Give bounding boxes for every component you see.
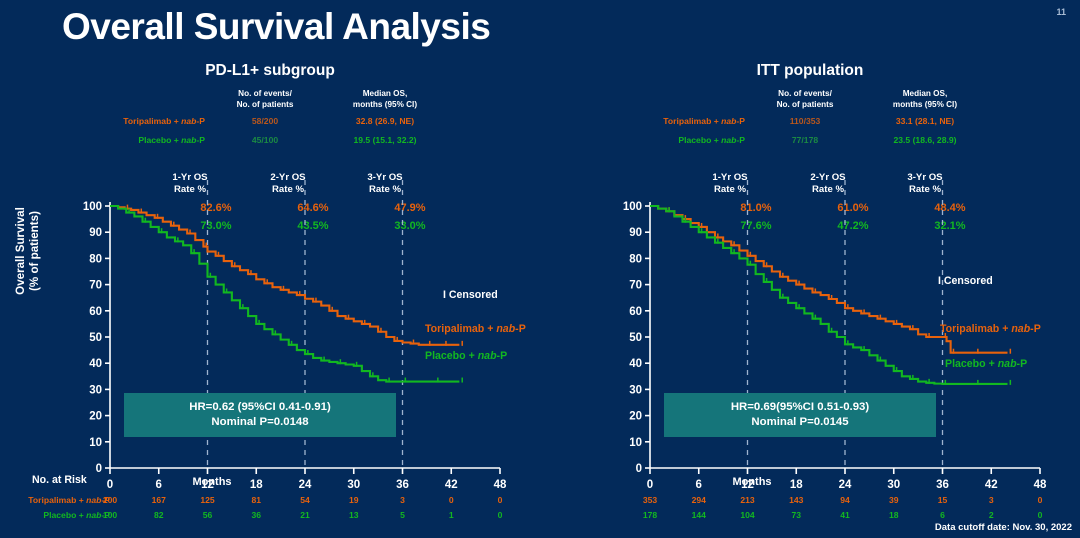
svg-text:100: 100: [83, 201, 102, 213]
hr-box-itt: HR=0.69(95%CI 0.51-0.93) Nominal P=0.014…: [664, 393, 936, 437]
svg-text:10: 10: [629, 437, 642, 449]
curve-label-treatment-pdl1: Toripalimab + nab-P: [425, 323, 526, 335]
svg-text:80: 80: [89, 253, 102, 265]
svg-text:30: 30: [89, 384, 102, 396]
page-title: Overall Survival Analysis: [62, 6, 490, 48]
svg-text:18: 18: [250, 479, 263, 491]
txt-italic: nab: [478, 350, 497, 362]
svg-text:42: 42: [985, 479, 998, 491]
at-risk-value: 19: [339, 495, 369, 505]
svg-text:24: 24: [299, 479, 312, 491]
at-risk-value: 15: [928, 495, 958, 505]
at-risk-value: 104: [733, 510, 763, 520]
at-risk-value: 21: [290, 510, 320, 520]
txt-italic: nab: [496, 323, 515, 335]
svg-text:50: 50: [89, 332, 102, 344]
svg-text:90: 90: [629, 227, 642, 239]
at-risk-value: 94: [830, 495, 860, 505]
at-risk-value: 0: [1025, 510, 1055, 520]
at-risk-value: 18: [879, 510, 909, 520]
svg-text:0: 0: [107, 479, 113, 491]
svg-text:30: 30: [629, 384, 642, 396]
svg-text:36: 36: [396, 479, 409, 491]
at-risk-value: 36: [241, 510, 271, 520]
hr-box-pdl1: HR=0.62 (95%CI 0.41-0.91) Nominal P=0.01…: [124, 393, 396, 437]
txt: Placebo +: [43, 510, 86, 520]
at-risk-value: 143: [781, 495, 811, 505]
page-number: 11: [1056, 7, 1066, 17]
at-risk-value: 13: [339, 510, 369, 520]
hr-line1: HR=0.69(95%CI 0.51-0.93): [731, 400, 869, 415]
curve-label-control-pdl1: Placebo + nab-P: [425, 350, 507, 362]
txt: Toripalimab +: [28, 495, 86, 505]
km-plot-itt: 01020304050607080901000612182430364248: [540, 58, 1080, 538]
at-risk-value: 0: [485, 510, 515, 520]
svg-text:48: 48: [1034, 479, 1047, 491]
at-risk-value: 167: [144, 495, 174, 505]
svg-text:70: 70: [629, 280, 642, 292]
svg-text:42: 42: [445, 479, 458, 491]
svg-text:30: 30: [347, 479, 360, 491]
panel-pdl1: PD-L1+ subgroup No. of events/ No. of pa…: [0, 58, 540, 538]
at-risk-value: 144: [684, 510, 714, 520]
censored-legend-pdl1: Ι Censored: [443, 289, 498, 301]
svg-text:100: 100: [623, 201, 642, 213]
svg-text:20: 20: [629, 411, 642, 423]
at-risk-value: 1: [436, 510, 466, 520]
at-risk-value: 0: [485, 495, 515, 505]
svg-text:24: 24: [839, 479, 852, 491]
curve-label-control-itt: Placebo + nab-P: [945, 358, 1027, 370]
txt: -P: [1030, 323, 1041, 335]
at-risk-value: 82: [144, 510, 174, 520]
at-risk-value: 294: [684, 495, 714, 505]
svg-text:40: 40: [89, 358, 102, 370]
at-risk-value: 125: [193, 495, 223, 505]
txt: Placebo +: [425, 350, 478, 362]
at-risk-title: No. at Risk: [32, 474, 87, 486]
svg-text:70: 70: [89, 280, 102, 292]
at-risk-value: 73: [781, 510, 811, 520]
svg-text:90: 90: [89, 227, 102, 239]
hr-line2: Nominal P=0.0148: [211, 415, 308, 430]
txt: Toripalimab +: [425, 323, 496, 335]
at-risk-value: 200: [95, 495, 125, 505]
svg-text:60: 60: [629, 306, 642, 318]
at-risk-label-treatment: Toripalimab + nab-P: [0, 495, 110, 505]
txt: -P: [515, 323, 526, 335]
censored-legend-itt: Ι Censored: [938, 275, 993, 287]
svg-text:0: 0: [636, 463, 642, 475]
svg-text:6: 6: [156, 479, 162, 491]
at-risk-value: 0: [1025, 495, 1055, 505]
txt-italic: nab: [998, 358, 1017, 370]
svg-text:60: 60: [89, 306, 102, 318]
svg-text:18: 18: [790, 479, 803, 491]
svg-text:36: 36: [936, 479, 949, 491]
at-risk-value: 41: [830, 510, 860, 520]
at-risk-value: 353: [635, 495, 665, 505]
at-risk-value: 3: [976, 495, 1006, 505]
txt: -P: [1017, 358, 1028, 370]
panel-itt: ITT population No. of events/ No. of pat…: [540, 58, 1080, 538]
svg-text:12: 12: [201, 479, 214, 491]
svg-text:40: 40: [629, 358, 642, 370]
txt: -P: [497, 350, 508, 362]
at-risk-value: 100: [95, 510, 125, 520]
svg-text:0: 0: [647, 479, 653, 491]
txt-italic: nab: [1011, 323, 1030, 335]
svg-text:10: 10: [89, 437, 102, 449]
hr-line1: HR=0.62 (95%CI 0.41-0.91): [189, 400, 331, 415]
at-risk-value: 6: [928, 510, 958, 520]
svg-text:0: 0: [96, 463, 102, 475]
txt: Placebo +: [945, 358, 998, 370]
svg-text:12: 12: [741, 479, 754, 491]
txt: Toripalimab +: [940, 323, 1011, 335]
svg-text:80: 80: [629, 253, 642, 265]
at-risk-value: 81: [241, 495, 271, 505]
svg-text:6: 6: [696, 479, 702, 491]
at-risk-value: 54: [290, 495, 320, 505]
svg-text:30: 30: [887, 479, 900, 491]
at-risk-value: 5: [388, 510, 418, 520]
curve-label-treatment-itt: Toripalimab + nab-P: [940, 323, 1041, 335]
at-risk-value: 2: [976, 510, 1006, 520]
plot-area-itt: 01020304050607080901000612182430364248: [540, 58, 1080, 538]
hr-line2: Nominal P=0.0145: [751, 415, 848, 430]
at-risk-label-control: Placebo + nab-P: [0, 510, 110, 520]
at-risk-value: 0: [436, 495, 466, 505]
at-risk-value: 3: [388, 495, 418, 505]
svg-text:50: 50: [629, 332, 642, 344]
at-risk-value: 56: [193, 510, 223, 520]
slide-root: Overall Survival Analysis 11 Data cutoff…: [0, 0, 1080, 538]
at-risk-value: 178: [635, 510, 665, 520]
svg-text:20: 20: [89, 411, 102, 423]
at-risk-value: 213: [733, 495, 763, 505]
at-risk-value: 39: [879, 495, 909, 505]
